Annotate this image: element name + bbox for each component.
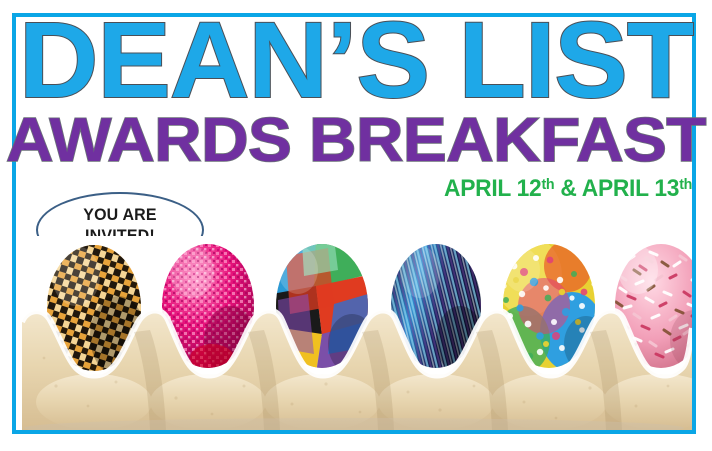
headline-secondary: AWARDS BREAKFAST [2,110,710,172]
headline-primary: DEAN’S LIST [15,8,696,112]
event-dates-first: APRIL 12 [444,175,541,202]
event-dates-second-ordinal: th [679,176,692,193]
event-dates-conjunction: & APRIL 13 [554,175,679,202]
event-dates-first-ordinal: th [541,176,554,193]
poster-canvas: DEAN’S LIST AWARDS BREAKFAST APRIL 12th … [0,0,712,451]
invite-line-1: YOU ARE [41,204,199,225]
egg-carton-photo [16,236,692,430]
event-dates: APRIL 12th & APRIL 13th [444,172,692,202]
egg-carton-illustration [16,236,692,430]
